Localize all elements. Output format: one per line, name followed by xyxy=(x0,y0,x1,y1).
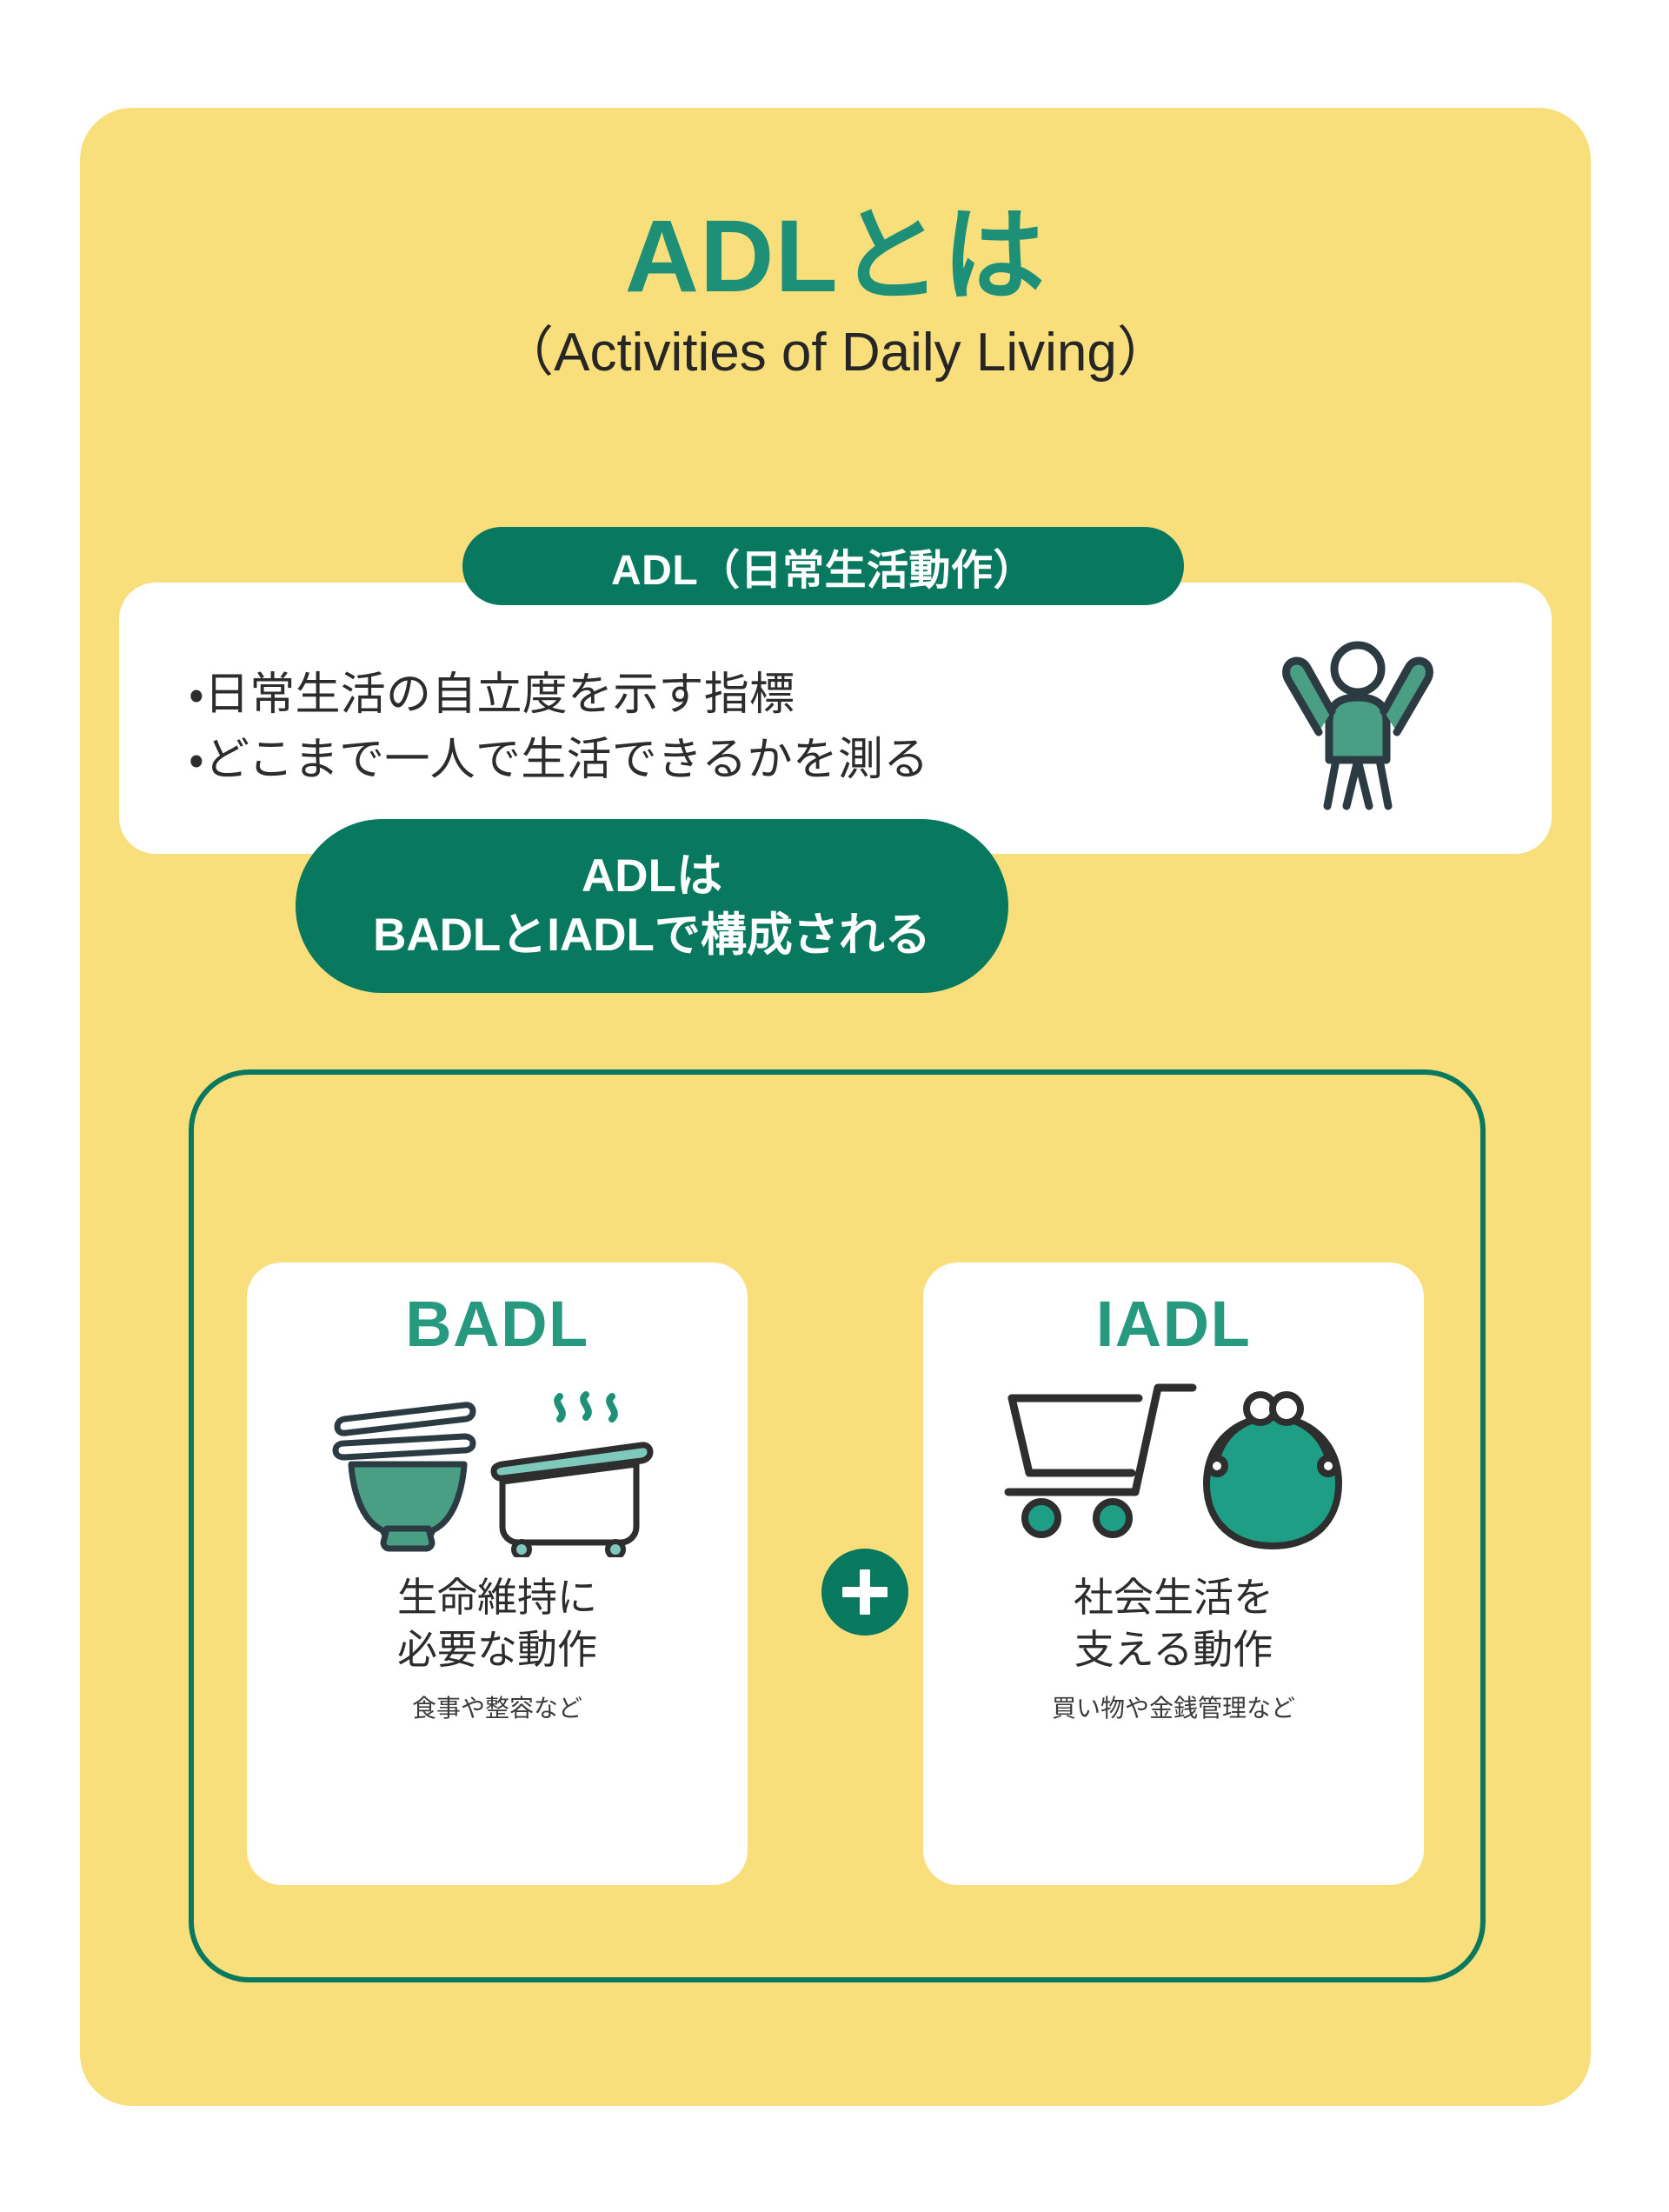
definition-card: ・日常生活の自立度を示す指標 ・どこまで一人で生活できるかを測る xyxy=(119,583,1552,854)
shopping-cart-coin-purse-icon xyxy=(923,1377,1424,1558)
card-iadl: IADL xyxy=(923,1263,1424,1885)
card-badl-note: 食事や整容など xyxy=(247,1694,748,1723)
card-iadl-note: 買い物や金銭管理など xyxy=(923,1694,1424,1723)
plus-operator-icon xyxy=(821,1549,908,1636)
page-subtitle: （Activities of Daily Living） xyxy=(80,323,1591,383)
rice-bowl-chopsticks-bathtub-icon xyxy=(247,1377,748,1558)
badge-adl-label: ADL（日常生活動作） xyxy=(611,536,1035,596)
card-badl-title: BADL xyxy=(247,1292,748,1356)
card-iadl-description: 社会生活を 支える動作 xyxy=(923,1572,1424,1676)
card-badl: BADL xyxy=(247,1263,748,1885)
page-title: ADLとは xyxy=(80,203,1591,311)
header: ADLとは （Activities of Daily Living） xyxy=(80,203,1591,383)
definition-bullets: ・日常生活の自立度を示す指標 ・どこまで一人で生活できるかを測る xyxy=(189,663,929,794)
badge-composition-label: ADLは BADLとIADLで構成される xyxy=(373,847,931,965)
card-iadl-title: IADL xyxy=(923,1292,1424,1356)
badge-composition: ADLは BADLとIADLで構成される xyxy=(296,819,1008,993)
person-arms-up-icon xyxy=(1267,628,1449,815)
plus-bar-vertical xyxy=(860,1569,870,1615)
poster-panel: ADLとは （Activities of Daily Living） ・日常生活… xyxy=(80,108,1591,2106)
badge-adl: ADL（日常生活動作） xyxy=(462,527,1184,605)
card-badl-description: 生命維持に 必要な動作 xyxy=(247,1572,748,1676)
